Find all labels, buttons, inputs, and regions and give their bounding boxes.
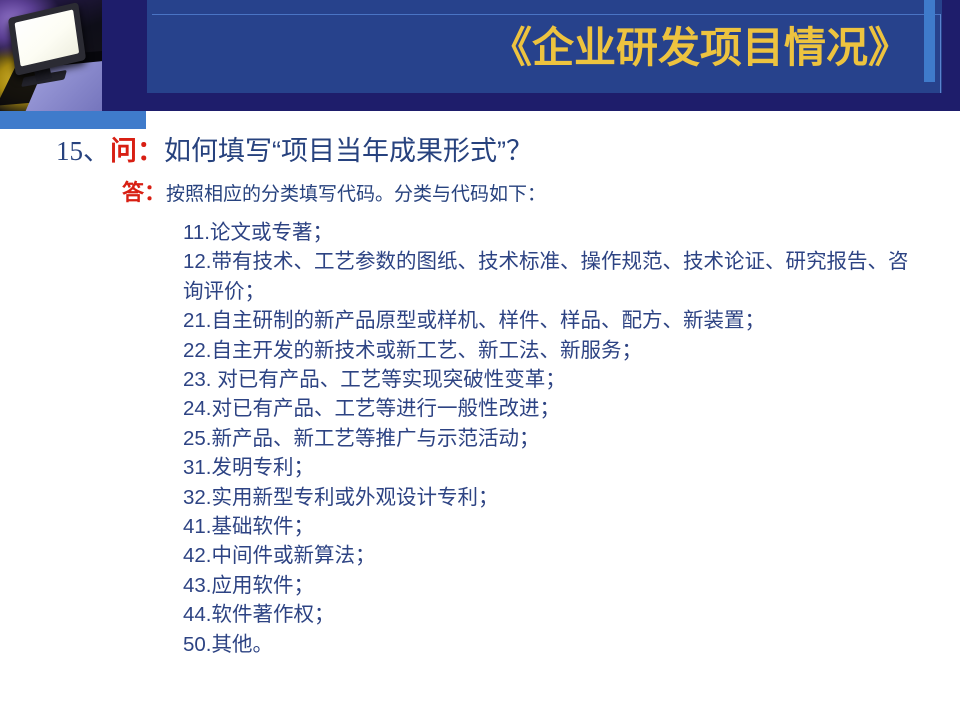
- list-item: 22.自主开发的新技术或新工艺、新工法、新服务；: [183, 336, 923, 365]
- list-item: 50.其他。: [183, 630, 923, 659]
- header-accent-bar: [924, 0, 935, 82]
- slide-content: 15、问：如何填写“项目当年成果形式”？ 答：按照相应的分类填写代码。分类与代码…: [0, 128, 960, 720]
- list-item: 21.自主研制的新产品原型或样机、样件、样品、配方、新装置；: [183, 306, 923, 335]
- question-line: 15、问：如何填写“项目当年成果形式”？: [56, 132, 533, 170]
- list-item: 32.实用新型专利或外观设计专利；: [183, 483, 923, 512]
- list-item: 23. 对已有产品、工艺等实现突破性变革；: [183, 365, 923, 394]
- question-number: 15、: [56, 136, 110, 166]
- list-item: 31.发明专利；: [183, 453, 923, 482]
- list-item: 41.基础软件；: [183, 512, 923, 541]
- list-item: 12.带有技术、工艺参数的图纸、技术标准、操作规范、技术论证、研究报告、咨询评价…: [183, 247, 923, 306]
- code-list: 11.论文或专著； 12.带有技术、工艺参数的图纸、技术标准、操作规范、技术论证…: [183, 218, 923, 659]
- question-tag: 问：: [110, 136, 164, 166]
- question-text: 如何填写“项目当年成果形式”？: [164, 136, 533, 166]
- list-item: 42.中间件或新算法；: [183, 541, 923, 570]
- presentation-slide: 《企业研发项目情况》 15、问：如何填写“项目当年成果形式”？ 答：按照相应的分…: [0, 0, 960, 720]
- header-hairline-decor: [152, 14, 940, 15]
- list-item: 24.对已有产品、工艺等进行一般性改进；: [183, 394, 923, 423]
- list-item: 43.应用软件；: [183, 571, 923, 600]
- header-vertical-line-decor: [940, 14, 941, 93]
- page-title: 《企业研发项目情况》: [440, 17, 910, 79]
- answer-tag: 答：: [122, 180, 166, 205]
- answer-line: 答：按照相应的分类填写代码。分类与代码如下：: [122, 177, 546, 211]
- answer-text: 按照相应的分类填写代码。分类与代码如下：: [166, 184, 546, 205]
- list-item: 44.软件著作权；: [183, 600, 923, 629]
- list-item: 11.论文或专著；: [183, 218, 923, 247]
- list-item: 25.新产品、新工艺等推广与示范活动；: [183, 424, 923, 453]
- computer-monitor-icon: [0, 0, 102, 111]
- logo-underline-strip: [0, 111, 146, 129]
- monitor-screen: [15, 9, 80, 66]
